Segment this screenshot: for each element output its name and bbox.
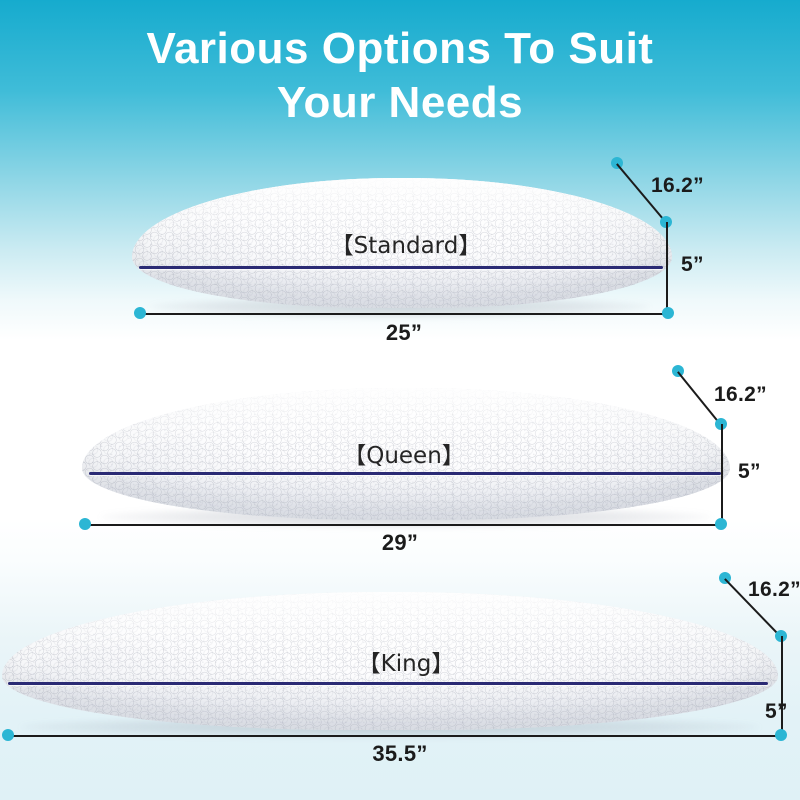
king-width-dot-left — [2, 729, 14, 741]
pillow-size-infographic: Various Options To Suit Your Needs 【Stan… — [0, 0, 800, 800]
queen-depth-label: 16.2” — [714, 383, 767, 407]
queen-height-line — [721, 424, 723, 524]
standard-pillow-label: 【Standard】 — [331, 226, 482, 260]
standard-pillow-piping — [139, 266, 663, 269]
king-pillow-piping — [8, 682, 768, 685]
standard-height-label: 5” — [681, 253, 704, 277]
queen-width-label: 29” — [382, 530, 418, 556]
standard-height-line — [666, 222, 668, 313]
king-depth-label: 16.2” — [748, 578, 800, 602]
queen-pillow-piping — [89, 472, 721, 475]
king-pillow-label: 【King】 — [358, 644, 455, 678]
queen-height-label: 5” — [738, 460, 761, 484]
king-width-dot-right — [775, 729, 787, 741]
standard-width-line — [140, 313, 668, 315]
queen-width-dot-left — [79, 518, 91, 530]
queen-pillow-label: 【Queen】 — [343, 436, 465, 470]
page-title: Various Options To Suit Your Needs — [0, 22, 800, 130]
queen-width-dot-right — [715, 518, 727, 530]
queen-width-line — [85, 524, 721, 526]
standard-width-dot-right — [662, 307, 674, 319]
standard-width-dot-left — [134, 307, 146, 319]
king-width-label: 35.5” — [372, 741, 427, 767]
king-width-line — [6, 735, 781, 737]
standard-width-label: 25” — [386, 320, 422, 346]
king-height-label: 5” — [765, 700, 788, 724]
standard-depth-label: 16.2” — [651, 174, 704, 198]
